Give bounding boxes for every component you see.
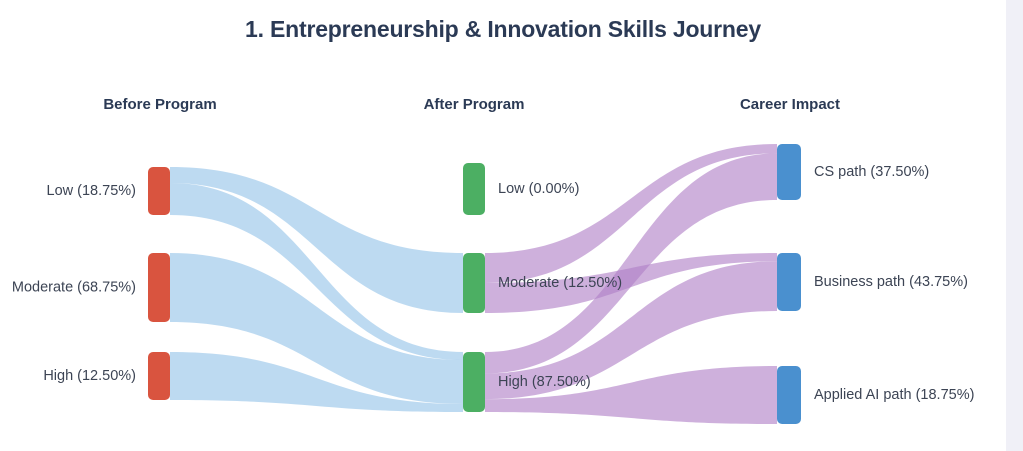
sankey-node-label-before-moderate: Moderate (68.75%) (12, 279, 136, 295)
sankey-node-label-before-low: Low (18.75%) (47, 183, 136, 199)
sankey-node-after-low[interactable] (463, 163, 485, 215)
chart-content-area: 1. Entrepreneurship & Innovation Skills … (0, 0, 1006, 451)
sankey-node-after-high[interactable] (463, 352, 485, 412)
sankey-diagram: Low (18.75%)Moderate (68.75%)High (12.50… (0, 0, 1006, 451)
sankey-node-career-business[interactable] (777, 253, 801, 311)
sankey-node-label-career-cs: CS path (37.50%) (814, 164, 929, 180)
sankey-node-label-career-business: Business path (43.75%) (814, 274, 968, 290)
chart-canvas: 1. Entrepreneurship & Innovation Skills … (0, 0, 1023, 451)
sankey-node-label-before-high: High (12.50%) (43, 368, 136, 384)
sankey-node-label-career-ai: Applied AI path (18.75%) (814, 387, 974, 403)
sankey-node-before-high[interactable] (148, 352, 170, 400)
sankey-node-career-cs[interactable] (777, 144, 801, 200)
sankey-node-after-moderate[interactable] (463, 253, 485, 313)
sankey-node-label-after-low: Low (0.00%) (498, 181, 579, 197)
sankey-node-career-ai[interactable] (777, 366, 801, 424)
sankey-node-before-moderate[interactable] (148, 253, 170, 322)
sankey-node-label-after-moderate: Moderate (12.50%) (498, 275, 622, 291)
sankey-node-before-low[interactable] (148, 167, 170, 215)
sankey-node-label-after-high: High (87.50%) (498, 374, 591, 390)
